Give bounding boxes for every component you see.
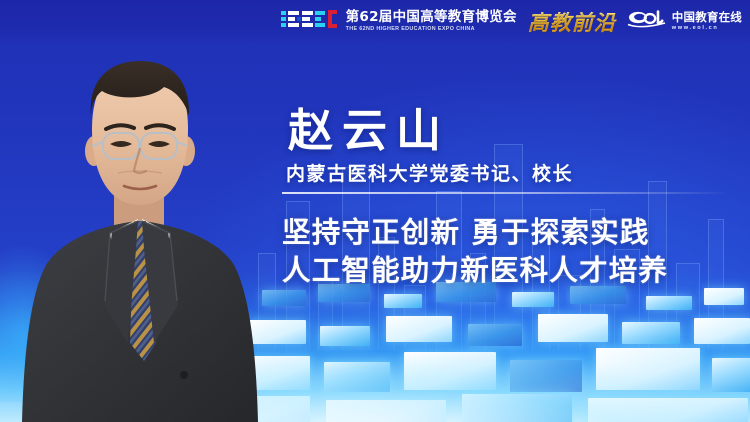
eol-logo-block: 中国教育在线 www.eol.cn <box>627 9 742 34</box>
eol-logo-icon <box>627 9 667 34</box>
heec-logo-icon <box>281 8 337 35</box>
divider-rule <box>282 192 730 194</box>
speaker-name: 赵云山 <box>288 108 734 153</box>
banner-header: 第62届中国高等教育博览会 THE 62ND HIGHER EDUCATION … <box>0 0 750 43</box>
expo-title-cn: 第62届中国高等教育博览会 <box>346 11 517 25</box>
banner-stage: 第62届中国高等教育博览会 THE 62ND HIGHER EDUCATION … <box>0 0 750 422</box>
expo-title-block: 第62届中国高等教育博览会 THE 62ND HIGHER EDUCATION … <box>346 11 517 32</box>
program-title: 高教前沿 <box>526 7 618 37</box>
expo-title-en: THE 62ND HIGHER EDUCATION EXPO CHINA <box>346 27 517 32</box>
topic-line-2: 人工智能助力新医科人才培养 <box>282 252 734 290</box>
eol-url: www.eol.cn <box>672 26 742 32</box>
eol-name-cn: 中国教育在线 <box>672 12 742 24</box>
speaker-copy: 赵云山 内蒙古医科大学党委书记、校长 坚持守正创新 勇于探索实践 人工智能助力新… <box>282 108 734 290</box>
speaker-topic: 坚持守正创新 勇于探索实践 人工智能助力新医科人才培养 <box>282 214 734 290</box>
speaker-portrait <box>6 43 274 422</box>
speaker-role: 内蒙古医科大学党委书记、校长 <box>286 165 734 184</box>
topic-line-1: 坚持守正创新 勇于探索实践 <box>282 214 734 252</box>
